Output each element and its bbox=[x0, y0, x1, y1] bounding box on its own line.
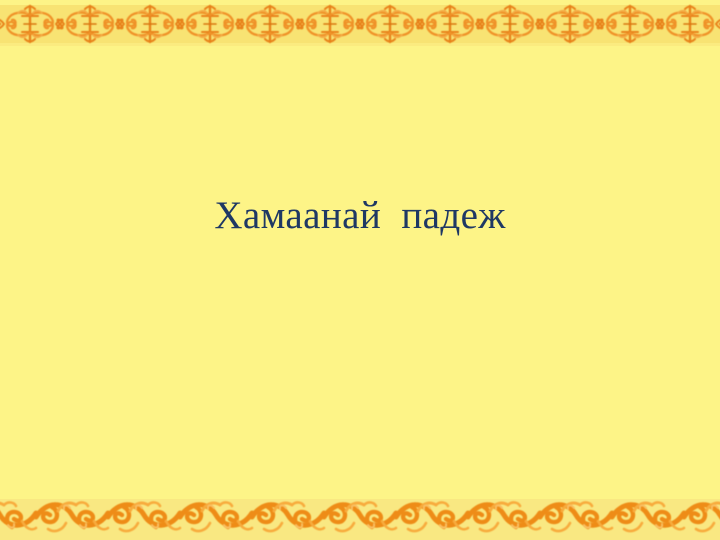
top-ornament-band bbox=[0, 2, 720, 46]
slide-title: Хамаанай падеж bbox=[214, 196, 505, 237]
top-ornament-svg bbox=[0, 2, 720, 46]
title-block: Хамаанай падеж bbox=[0, 196, 720, 237]
slide-canvas: Хамаанай падеж bbox=[0, 0, 720, 540]
bottom-ornament-svg bbox=[0, 495, 720, 540]
bottom-ornament-band bbox=[0, 495, 720, 540]
